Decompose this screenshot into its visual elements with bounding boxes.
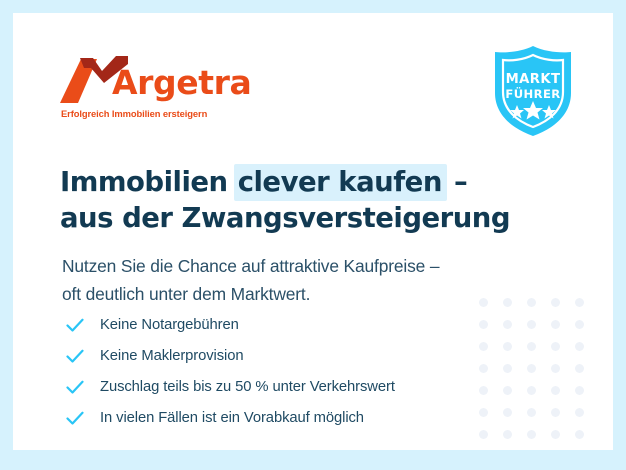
list-item-label: Keine Notargebühren [100, 317, 239, 333]
dot [551, 364, 560, 373]
headline-post: – [445, 166, 467, 198]
page-title: Immobilien clever kaufen – aus der Zwang… [60, 164, 530, 236]
logo-tagline: Erfolgreich Immobilien ersteigern [61, 108, 207, 119]
dot [551, 298, 560, 307]
list-item-label: Zuschlag teils bis zu 50 % unter Verkehr… [100, 379, 395, 395]
dot [551, 320, 560, 329]
dot [575, 364, 584, 373]
dot [575, 320, 584, 329]
headline-pre: Immobilien [60, 166, 237, 198]
market-leader-badge: MARKT FÜHRER [491, 45, 575, 137]
list-item-label: Keine Maklerprovision [100, 348, 243, 364]
logo-wordmark: Argetra [112, 66, 251, 99]
argetra-logo[interactable]: Argetra Erfolgreich Immobilien ersteiger… [60, 51, 320, 126]
subheadline: Nutzen Sie die Chance auf attraktive Kau… [62, 252, 542, 308]
dot [575, 342, 584, 351]
subheadline-line-1: Nutzen Sie die Chance auf attraktive Kau… [62, 252, 542, 280]
dot [551, 430, 560, 439]
check-icon [66, 380, 84, 395]
dot [575, 298, 584, 307]
headline-line-1: Immobilien clever kaufen – [60, 164, 530, 200]
promo-banner: Argetra Erfolgreich Immobilien ersteiger… [0, 0, 626, 470]
dot [575, 430, 584, 439]
check-icon [66, 411, 84, 426]
list-item: Zuschlag teils bis zu 50 % unter Verkehr… [64, 372, 534, 403]
dot [551, 342, 560, 351]
check-icon [66, 349, 84, 364]
list-item: In vielen Fällen ist ein Vorabkauf mögli… [64, 403, 534, 434]
dot [551, 408, 560, 417]
headline-line-2: aus der Zwangsversteigerung [60, 200, 530, 236]
check-icon [66, 318, 84, 333]
list-item: Keine Notargebühren [64, 310, 534, 341]
list-item: Keine Maklerprovision [64, 341, 534, 372]
benefits-list: Keine Notargebühren Keine Maklerprovisio… [64, 310, 534, 434]
headline-highlight: clever kaufen [234, 164, 447, 201]
badge-line1: MARKT [506, 72, 561, 87]
dot [575, 408, 584, 417]
dot [575, 386, 584, 395]
badge-line2: FÜHRER [505, 86, 560, 101]
list-item-label: In vielen Fällen ist ein Vorabkauf mögli… [100, 410, 364, 426]
dot [551, 386, 560, 395]
subheadline-line-2: oft deutlich unter dem Marktwert. [62, 280, 542, 308]
banner-card: Argetra Erfolgreich Immobilien ersteiger… [13, 13, 613, 450]
